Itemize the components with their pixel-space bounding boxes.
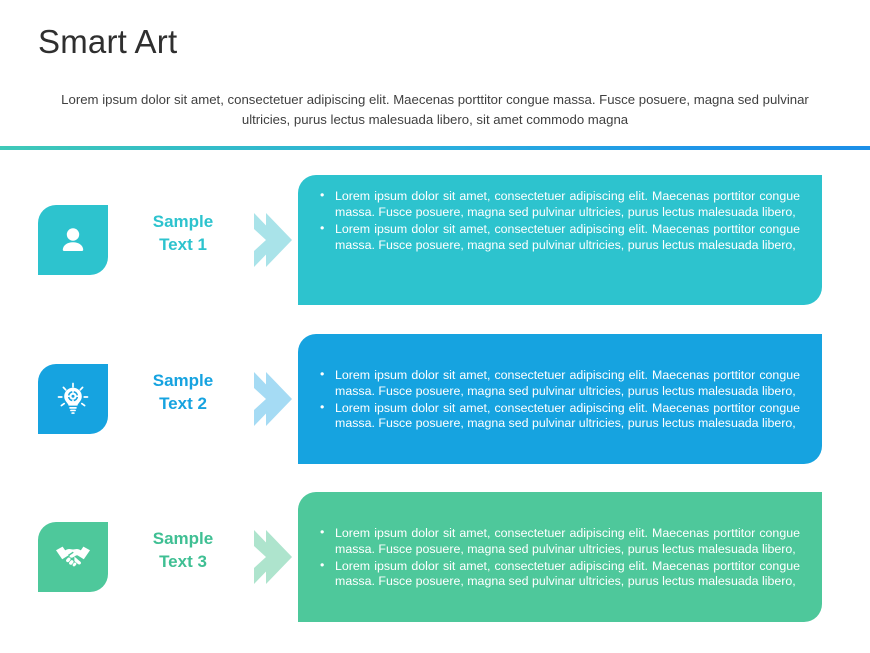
smartart-row-3: Sample Text 3 Lorem ipsum dolor sit amet… <box>0 492 870 622</box>
slide-canvas: Smart Art Lorem ipsum dolor sit amet, co… <box>0 0 870 653</box>
list-item: Lorem ipsum dolor sit amet, consectetuer… <box>318 559 800 591</box>
list-item: Lorem ipsum dolor sit amet, consectetuer… <box>318 222 800 254</box>
list-item: Lorem ipsum dolor sit amet, consectetuer… <box>318 526 800 558</box>
chevron-right-icon-3 <box>250 526 294 588</box>
page-title: Smart Art <box>38 22 177 62</box>
chevron-right-icon-1 <box>250 209 294 271</box>
step-label-3: Sample Text 3 <box>124 528 242 574</box>
smartart-row-2: Sample Text 2 Lorem ipsum dolor sit amet… <box>0 334 870 464</box>
page-subtitle: Lorem ipsum dolor sit amet, consectetuer… <box>38 90 832 131</box>
user-icon <box>56 223 90 257</box>
step-label-3-line2: Text 3 <box>124 551 242 574</box>
bullet-list-2: Lorem ipsum dolor sit amet, consectetuer… <box>318 368 800 433</box>
list-item: Lorem ipsum dolor sit amet, consectetuer… <box>318 401 800 433</box>
step-label-2: Sample Text 2 <box>124 370 242 416</box>
step-label-1-line2: Text 1 <box>124 234 242 257</box>
step-label-1-line1: Sample <box>124 211 242 234</box>
list-item: Lorem ipsum dolor sit amet, consectetuer… <box>318 368 800 400</box>
step-label-2-line1: Sample <box>124 370 242 393</box>
bullet-list-3: Lorem ipsum dolor sit amet, consectetuer… <box>318 526 800 591</box>
lightbulb-gear-icon <box>55 381 91 417</box>
bullet-list-1: Lorem ipsum dolor sit amet, consectetuer… <box>318 189 800 254</box>
chevron-right-icon-2 <box>250 368 294 430</box>
smartart-row-1: Sample Text 1 Lorem ipsum dolor sit amet… <box>0 175 870 305</box>
list-item: Lorem ipsum dolor sit amet, consectetuer… <box>318 189 800 221</box>
content-box-2: Lorem ipsum dolor sit amet, consectetuer… <box>298 334 822 464</box>
step-label-3-line1: Sample <box>124 528 242 551</box>
step-label-2-line2: Text 2 <box>124 393 242 416</box>
step-label-1: Sample Text 1 <box>124 211 242 257</box>
icon-box-3[interactable] <box>38 522 108 592</box>
content-box-3: Lorem ipsum dolor sit amet, consectetuer… <box>298 492 822 622</box>
handshake-icon <box>54 542 92 572</box>
gradient-divider <box>0 146 870 150</box>
icon-box-1[interactable] <box>38 205 108 275</box>
icon-box-2[interactable] <box>38 364 108 434</box>
content-box-1: Lorem ipsum dolor sit amet, consectetuer… <box>298 175 822 305</box>
